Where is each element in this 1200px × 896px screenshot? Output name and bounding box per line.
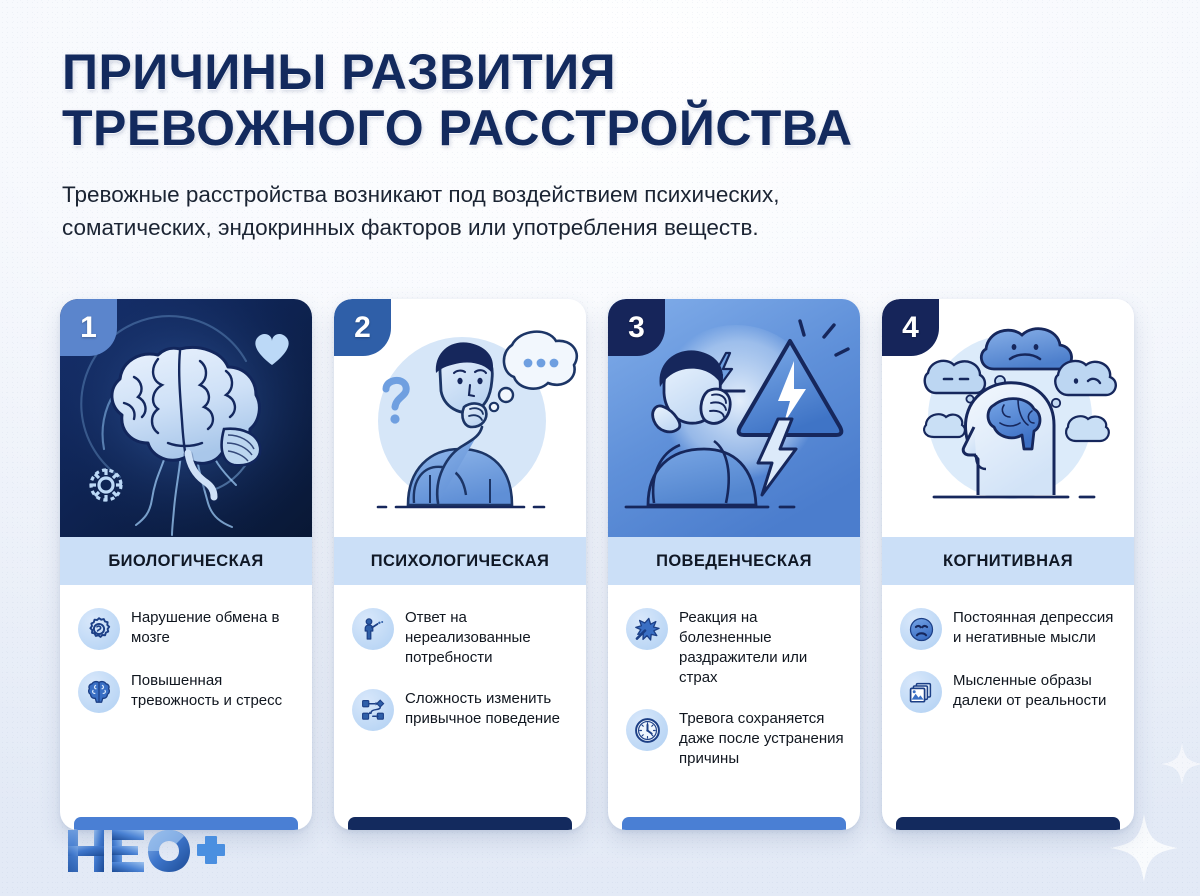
- card-1-hero-image: 1: [60, 299, 312, 537]
- card-4-number: 4: [902, 313, 919, 343]
- card-2-bottom-accent-bar: [348, 817, 572, 830]
- list-item-text: Постоянная депрессия и негативные мысли: [953, 607, 1118, 648]
- card-3-label: ПОВЕДЕНЧЕСКАЯ: [656, 552, 812, 571]
- list-item: Постоянная депрессия и негативные мысли: [900, 607, 1118, 650]
- list-item-text: Реакция на болезненные раздражители или …: [679, 607, 844, 688]
- card-2-hero-image: 2: [334, 299, 586, 537]
- list-item: Ответ на нереализованные потребности: [352, 607, 570, 668]
- page-title: ПРИЧИНЫ РАЗВИТИЯ ТРЕВОЖНОГО РАССТРОЙСТВА: [62, 44, 1122, 156]
- page-title-line-1: ПРИЧИНЫ РАЗВИТИЯ: [62, 44, 616, 100]
- card-2-label: ПСИХОЛОГИЧЕСКАЯ: [371, 552, 550, 571]
- card-4-label-band: КОГНИТИВНАЯ: [882, 537, 1134, 585]
- brain-icon: [78, 671, 120, 713]
- card-behavioral[interactable]: 3 ПОВЕДЕНЧЕСКАЯ Реакция на болезненные р…: [608, 299, 860, 830]
- card-2-label-band: ПСИХОЛОГИЧЕСКАЯ: [334, 537, 586, 585]
- brand-logo: [66, 824, 226, 878]
- card-1-label-band: БИОЛОГИЧЕСКАЯ: [60, 537, 312, 585]
- card-4-hero-image: 4: [882, 299, 1134, 537]
- page-subtitle: Тревожные расстройства возникают под воз…: [62, 178, 1022, 244]
- neo-plus-logo-icon: [66, 824, 226, 878]
- burst-icon: [626, 608, 668, 650]
- card-4-bullets: Постоянная депрессия и негативные мысли: [882, 585, 1134, 807]
- thought-cloud-wink-icon: [1055, 361, 1116, 395]
- card-3-number-badge: 3: [608, 299, 665, 356]
- page-subtitle-line-2: соматических, эндокринных факторов или у…: [62, 211, 1022, 244]
- card-cognitive[interactable]: 4 КОГНИТИВНАЯ: [882, 299, 1134, 830]
- page-title-line-2: ТРЕВОЖНОГО РАССТРОЙСТВА: [62, 100, 1122, 156]
- images-icon: [900, 671, 942, 713]
- list-item: Тревога сохраняется даже после устранени…: [626, 708, 844, 769]
- card-2-number-badge: 2: [334, 299, 391, 356]
- card-biological[interactable]: 1 БИОЛОГИЧЕСКАЯ: [60, 299, 312, 830]
- gear-brain-icon: [78, 608, 120, 650]
- card-1-bullets: Нарушение обмена в мозге: [60, 585, 312, 807]
- list-item-text: Мысленные образы далеки от реальности: [953, 670, 1118, 711]
- card-4-number-badge: 4: [882, 299, 939, 356]
- person-reaching-icon: [352, 608, 394, 650]
- list-item-text: Тревога сохраняется даже после устранени…: [679, 708, 844, 769]
- card-psychological[interactable]: 2 ПСИХОЛОГИЧЕСКАЯ: [334, 299, 586, 830]
- card-3-bottom-accent-bar: [622, 817, 846, 830]
- list-item-text: Повышенная тревожность и стресс: [131, 670, 296, 711]
- card-2-number: 2: [354, 313, 371, 343]
- infographic-page: ПРИЧИНЫ РАЗВИТИЯ ТРЕВОЖНОГО РАССТРОЙСТВА…: [0, 0, 1200, 896]
- card-1-number: 1: [80, 313, 97, 343]
- card-4-label: КОГНИТИВНАЯ: [943, 552, 1073, 571]
- list-item: Сложность изменить привычное поведение: [352, 688, 570, 731]
- list-item: Нарушение обмена в мозге: [78, 607, 296, 650]
- sparkle-small-decoration-icon: [1160, 742, 1200, 786]
- list-item-text: Сложность изменить привычное поведение: [405, 688, 570, 729]
- sad-face-icon: [900, 608, 942, 650]
- header: ПРИЧИНЫ РАЗВИТИЯ ТРЕВОЖНОГО РАССТРОЙСТВА…: [62, 44, 1122, 244]
- card-3-number: 3: [628, 313, 645, 343]
- list-item-text: Ответ на нереализованные потребности: [405, 607, 570, 668]
- flowchart-icon: [352, 689, 394, 731]
- card-3-bullets: Реакция на болезненные раздражители или …: [608, 585, 860, 807]
- list-item: Повышенная тревожность и стресс: [78, 670, 296, 713]
- list-item: Мысленные образы далеки от реальности: [900, 670, 1118, 713]
- card-4-bottom-accent-bar: [896, 817, 1120, 830]
- clock-icon: [626, 709, 668, 751]
- card-1-number-badge: 1: [60, 299, 117, 356]
- card-3-hero-image: 3: [608, 299, 860, 537]
- cards-row: 1 БИОЛОГИЧЕСКАЯ: [60, 299, 1145, 830]
- card-3-label-band: ПОВЕДЕНЧЕСКАЯ: [608, 537, 860, 585]
- thought-cloud-icon: [925, 361, 985, 393]
- page-subtitle-line-1: Тревожные расстройства возникают под воз…: [62, 182, 780, 207]
- list-item-text: Нарушение обмена в мозге: [131, 607, 296, 648]
- list-item: Реакция на болезненные раздражители или …: [626, 607, 844, 688]
- card-2-bullets: Ответ на нереализованные потребности: [334, 585, 586, 807]
- card-1-label: БИОЛОГИЧЕСКАЯ: [108, 552, 263, 571]
